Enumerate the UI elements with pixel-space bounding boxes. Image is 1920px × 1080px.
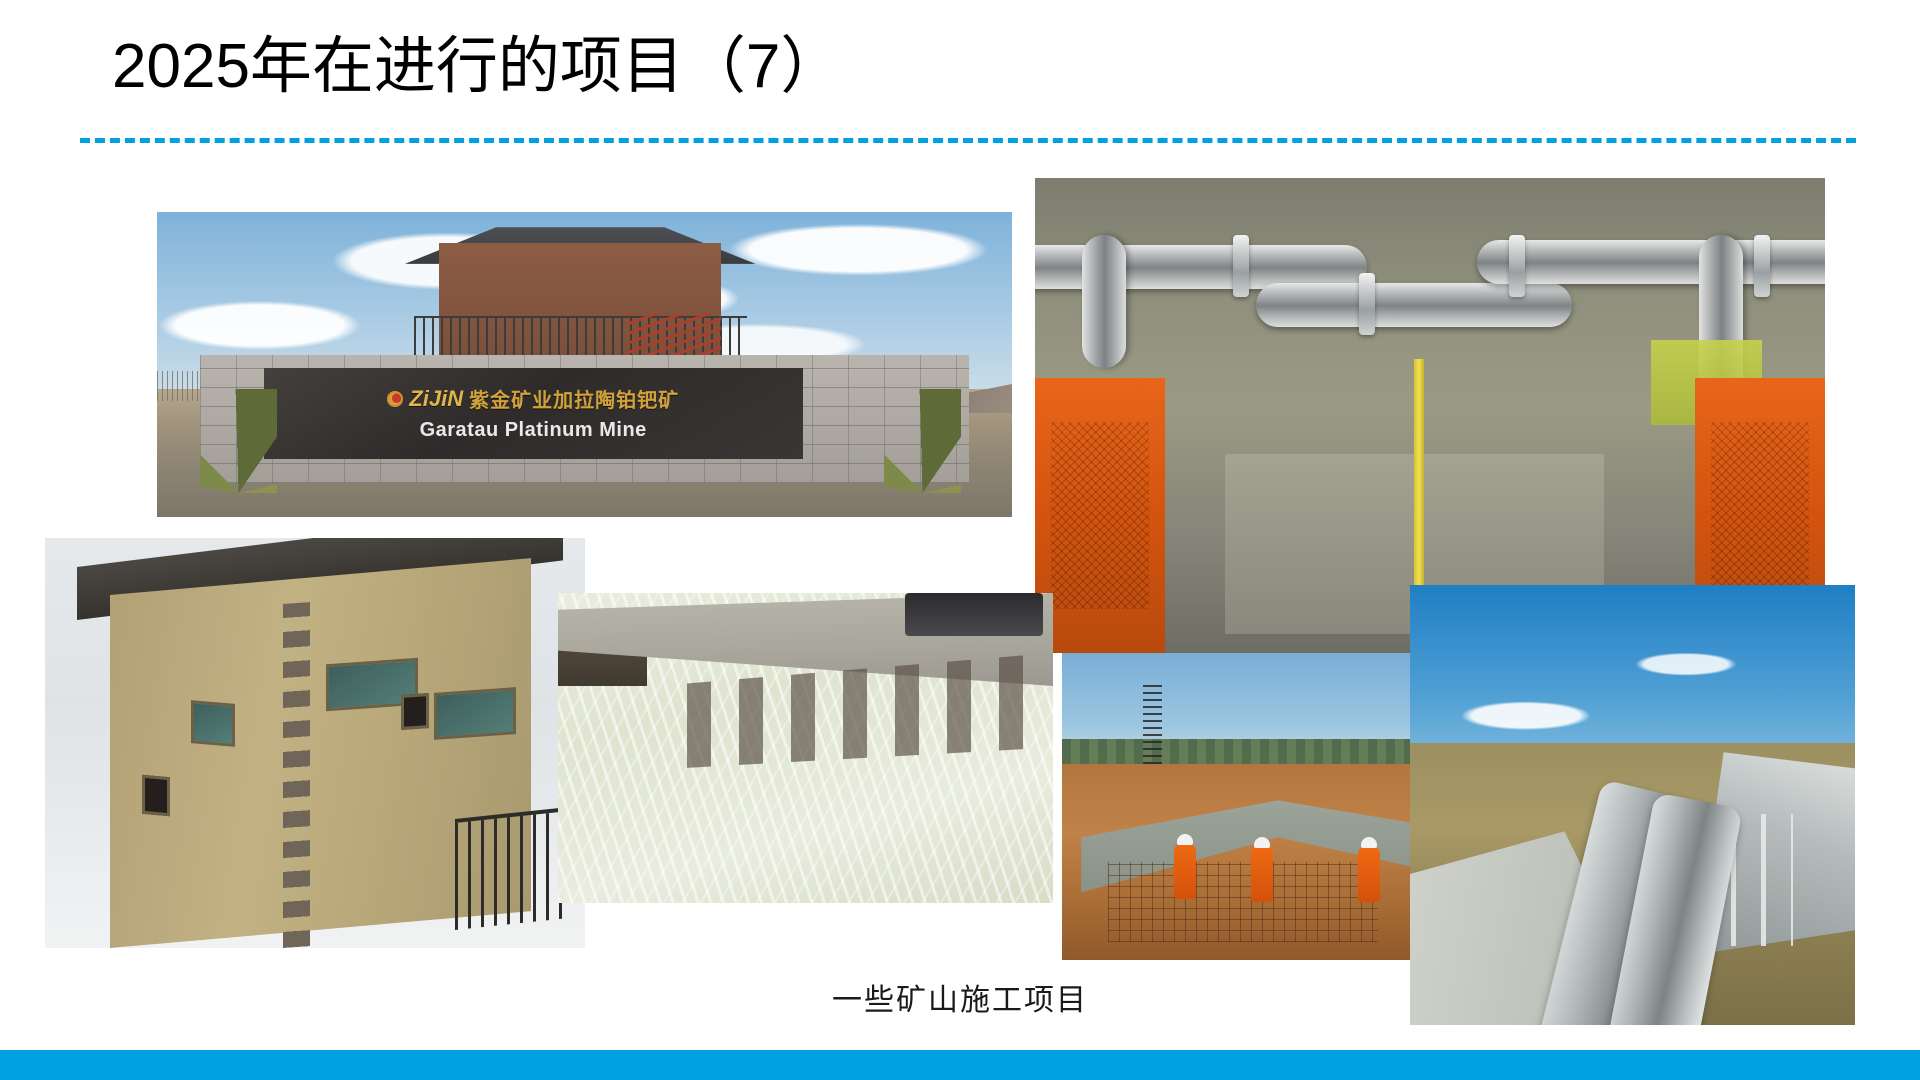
pipe-flange-2 bbox=[1359, 273, 1375, 335]
slide-caption: 一些矿山施工项目 bbox=[0, 975, 1920, 1019]
zijin-logo-icon bbox=[387, 391, 403, 407]
red-stair bbox=[627, 313, 721, 362]
photo-pump-station-pipework bbox=[1035, 178, 1825, 653]
photo-garatau-platinum-mine-gate-sign: ZiJiN 紫金矿业加拉陶铂钯矿 Garatau Platinum Mine bbox=[157, 212, 1012, 517]
pipe-flange-1 bbox=[1233, 235, 1249, 297]
pipe-vertical-left bbox=[1082, 235, 1126, 368]
window-4 bbox=[401, 693, 429, 730]
signboard-cn-text: 紫金矿业加拉陶铂钯矿 bbox=[469, 384, 679, 413]
worker-1 bbox=[1174, 843, 1196, 899]
worker-3 bbox=[1358, 846, 1380, 902]
signboard-chinese-line: ZiJiN 紫金矿业加拉陶铂钯矿 bbox=[387, 384, 679, 413]
cabinet-mesh-left bbox=[1051, 422, 1150, 609]
aloe-plant-left bbox=[200, 389, 277, 493]
corner-stone-quoin bbox=[283, 602, 310, 948]
aloe-plant-right bbox=[884, 389, 961, 493]
rebar-mesh bbox=[1108, 862, 1378, 942]
pipe-flange-3 bbox=[1509, 235, 1525, 297]
pipe-horizontal-right bbox=[1477, 240, 1825, 284]
presentation-slide: 2025年在进行的项目（7） ZiJiN 紫金矿业加拉陶铂钯矿 Garatau … bbox=[0, 0, 1920, 1080]
orange-cabinet-left bbox=[1035, 378, 1165, 654]
worker-2 bbox=[1251, 846, 1273, 902]
window-3 bbox=[191, 700, 235, 747]
window-2 bbox=[434, 687, 516, 740]
signboard-en-text: Garatau Platinum Mine bbox=[420, 419, 647, 442]
zijin-wordmark: ZiJiN bbox=[409, 386, 463, 412]
balcony-railing bbox=[455, 807, 568, 930]
photo-site-office-building bbox=[45, 538, 585, 948]
photo-spillway-overflow-weir bbox=[558, 593, 1053, 903]
title-divider bbox=[80, 138, 1856, 143]
footer-accent-bar bbox=[0, 1050, 1920, 1080]
photo-trench-construction-workers bbox=[1062, 653, 1447, 960]
photo-hillside-pipeline bbox=[1410, 585, 1855, 1025]
pipe-flange-4 bbox=[1754, 235, 1770, 297]
parked-vehicle bbox=[905, 593, 1044, 636]
transmission-pylon bbox=[1143, 684, 1162, 764]
mine-name-signboard: ZiJiN 紫金矿业加拉陶铂钯矿 Garatau Platinum Mine bbox=[264, 368, 803, 460]
window-5 bbox=[142, 775, 170, 816]
cabinet-mesh-right bbox=[1711, 422, 1810, 609]
page-title: 2025年在进行的项目（7） bbox=[112, 28, 842, 106]
